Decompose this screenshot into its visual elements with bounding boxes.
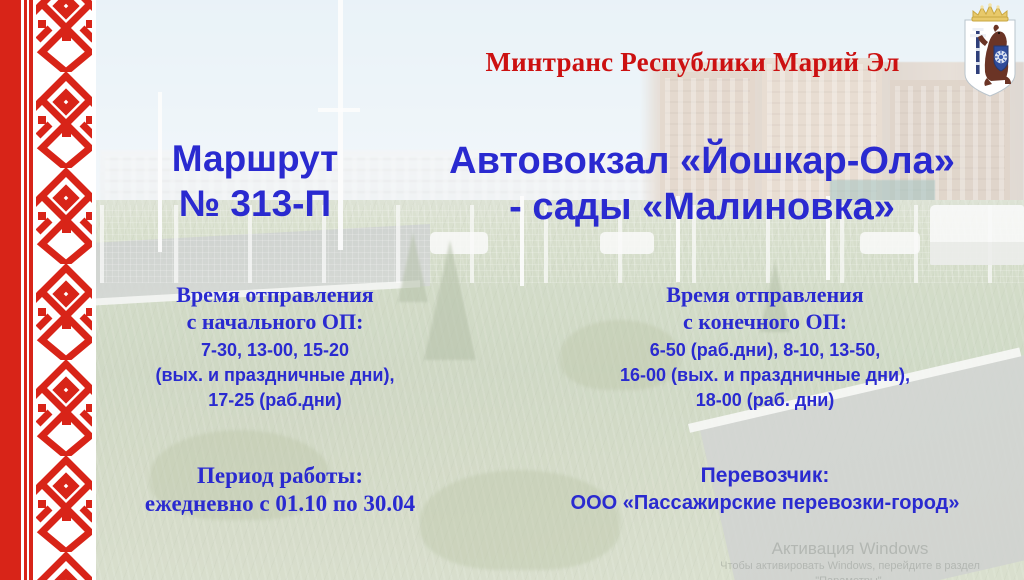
ornament-edge bbox=[92, 0, 96, 580]
watermark-title: Активация Windows bbox=[700, 538, 1000, 559]
parked-car bbox=[600, 232, 654, 254]
departures-end-times-1: 6-50 (раб.дни), 8-10, 13-50, bbox=[545, 338, 985, 363]
departures-start-times-1: 7-30, 13-00, 15-20 bbox=[110, 338, 440, 363]
coat-of-arms-icon bbox=[961, 2, 1019, 100]
route-number: № 313-П bbox=[110, 181, 400, 226]
ministry-title: Минтранс Республики Марий Эл bbox=[420, 47, 965, 78]
departures-start-label-1: Время отправления bbox=[110, 281, 440, 308]
ornament-diamond-pattern bbox=[36, 0, 96, 580]
ornament-motif bbox=[36, 168, 96, 264]
ornament-motif bbox=[36, 456, 96, 552]
carrier-block: Перевозчик: ООО «Пассажирские перевозки-… bbox=[530, 462, 1000, 518]
departures-end-times-2: 16-00 (вых. и праздничные дни), bbox=[545, 363, 985, 388]
departures-end-block: Время отправления с конечного ОП: 6-50 (… bbox=[545, 281, 985, 413]
departures-start-times-2: (вых. и праздничные дни), bbox=[110, 363, 440, 388]
route-label: Маршрут bbox=[110, 136, 400, 181]
mari-ornament-border bbox=[0, 0, 96, 580]
ornament-motif bbox=[36, 552, 96, 580]
departures-start-times-3: 17-25 (раб.дни) bbox=[110, 388, 440, 413]
watermark-subtitle: Чтобы активировать Windows, перейдите в … bbox=[700, 559, 1000, 580]
ornament-motif bbox=[36, 72, 96, 168]
poster: Минтранс Республики Марий Эл bbox=[0, 0, 1024, 580]
windows-activation-watermark: Активация Windows Чтобы активировать Win… bbox=[700, 538, 1000, 580]
route-heading: Автовокзал «Йошкар-Ола» - сады «Малиновк… bbox=[398, 138, 1006, 230]
operating-period-value: ежедневно с 01.10 по 30.04 bbox=[110, 489, 450, 518]
ornament-motif bbox=[36, 0, 96, 72]
operating-period-block: Период работы: ежедневно с 01.10 по 30.0… bbox=[110, 462, 450, 518]
parked-car bbox=[860, 232, 920, 254]
street-light-arm bbox=[318, 108, 360, 112]
ornament-motif bbox=[36, 264, 96, 360]
departures-end-times-3: 18-00 (раб. дни) bbox=[545, 388, 985, 413]
route-block: Маршрут № 313-П bbox=[110, 136, 400, 226]
carrier-label: Перевозчик: bbox=[530, 462, 1000, 489]
departures-start-times: 7-30, 13-00, 15-20 (вых. и праздничные д… bbox=[110, 338, 440, 413]
operating-period-label: Период работы: bbox=[110, 462, 450, 489]
heading-line-2: - сады «Малиновка» bbox=[398, 184, 1006, 230]
heading-line-1: Автовокзал «Йошкар-Ола» bbox=[398, 138, 1006, 184]
ornament-red-band bbox=[0, 0, 21, 580]
carrier-value: ООО «Пассажирские перевозки-город» bbox=[530, 489, 1000, 518]
departures-end-label-2: с конечного ОП: bbox=[545, 308, 985, 335]
departures-start-label-2: с начального ОП: bbox=[110, 308, 440, 335]
departures-start-block: Время отправления с начального ОП: 7-30,… bbox=[110, 281, 440, 413]
ornament-motif bbox=[36, 360, 96, 456]
departures-end-label-1: Время отправления bbox=[545, 281, 985, 308]
departures-end-times: 6-50 (раб.дни), 8-10, 13-50, 16-00 (вых.… bbox=[545, 338, 985, 413]
